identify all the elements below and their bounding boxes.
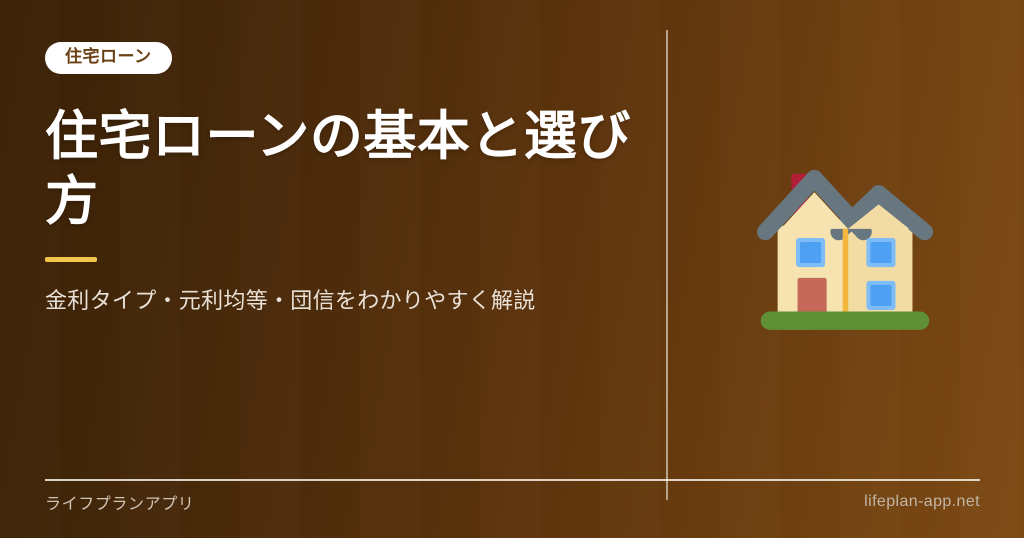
- accent-bar: [45, 257, 97, 262]
- footer-site-url: lifeplan-app.net: [864, 493, 980, 511]
- category-badge: 住宅ローン: [45, 42, 172, 74]
- house-icon: [747, 140, 943, 336]
- artwork-panel: [666, 0, 1024, 470]
- ogp-card: 住宅ローン 住宅ローンの基本と選び方 金利タイプ・元利均等・団信をわかりやすく解…: [0, 0, 1024, 538]
- page-title: 住宅ローンの基本と選び方: [45, 104, 640, 235]
- footer-divider: [45, 479, 980, 481]
- footer-app-name: ライフプランアプリ: [45, 490, 194, 514]
- page-subtitle: 金利タイプ・元利均等・団信をわかりやすく解説: [45, 284, 645, 318]
- hero-content: 住宅ローン 住宅ローンの基本と選び方 金利タイプ・元利均等・団信をわかりやすく解…: [45, 42, 645, 340]
- footer: ライフプランアプリ lifeplan-app.net: [45, 490, 980, 514]
